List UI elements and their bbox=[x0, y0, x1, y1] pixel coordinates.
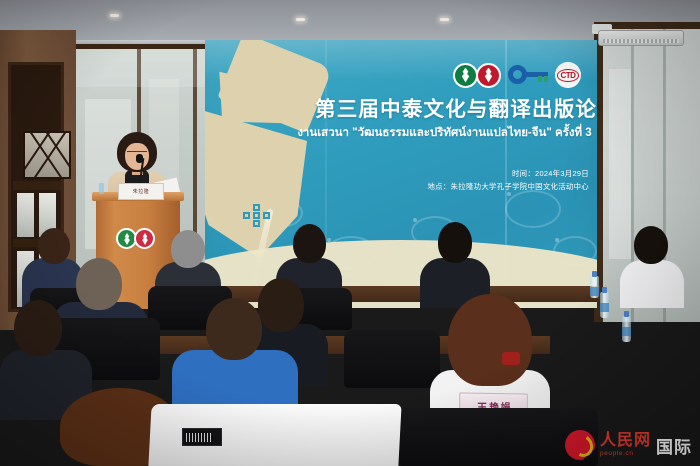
ctd-logo: CTD bbox=[555, 62, 581, 88]
ceiling-light-2 bbox=[440, 18, 449, 21]
watermark-section: 国际 bbox=[656, 433, 692, 458]
ceiling-light-3 bbox=[110, 14, 119, 17]
audience-head-8 bbox=[14, 300, 62, 356]
banner-logo-row: CTD bbox=[453, 62, 581, 88]
people-cn-logo-icon bbox=[565, 430, 595, 460]
banner-time-line: 时间：2024年3月29日 bbox=[359, 168, 589, 181]
chair-label-tag bbox=[182, 428, 222, 446]
ceiling-light-1 bbox=[296, 18, 305, 21]
audience-head-4 bbox=[438, 222, 472, 263]
water-bottle-2 bbox=[600, 292, 609, 318]
audience-head-3 bbox=[293, 224, 326, 263]
banner-event-details: 时间：2024年3月29日 地点：朱拉隆功大学孔子学院中国文化活动中心 bbox=[359, 168, 589, 194]
peoples-daily-watermark: 人民网 people.cn 国际 bbox=[565, 430, 692, 460]
audience-head-7 bbox=[206, 298, 262, 360]
banner-place-line: 地点：朱拉隆功大学孔子学院中国文化活动中心 bbox=[359, 181, 589, 194]
air-conditioner-unit bbox=[598, 30, 684, 46]
confucius-institute-red-logo bbox=[476, 63, 501, 88]
audience-head-2 bbox=[171, 230, 205, 268]
door-rail-top bbox=[13, 181, 61, 190]
chair-middle-2 bbox=[344, 330, 440, 388]
audience-head-9 bbox=[448, 294, 532, 386]
podium-water-bottle bbox=[99, 183, 104, 194]
banner-title-chinese: 第三届中泰文化与翻译出版论坛 bbox=[315, 92, 590, 122]
banner-subtitle-thai: งานเสวนา "วัฒนธรรมและปริทัศน์งานแปลไทย-จ… bbox=[297, 124, 592, 142]
watermark-brand: 人民网 people.cn bbox=[600, 433, 651, 458]
water-bottle-4 bbox=[590, 276, 599, 298]
watermark-brand-zh: 人民网 bbox=[600, 433, 651, 449]
water-bottle-3 bbox=[622, 316, 631, 342]
ctd-logo-label: CTD bbox=[557, 69, 580, 82]
cloud-motif-1 bbox=[505, 190, 561, 228]
audience-head-10 bbox=[634, 226, 668, 264]
hair-clip bbox=[502, 352, 520, 365]
audience-member-10 bbox=[620, 226, 684, 308]
audience-member-7 bbox=[172, 298, 298, 418]
door-transom-window bbox=[23, 131, 71, 179]
nib-knot-ornament bbox=[243, 204, 277, 234]
event-backdrop-banner: CTD 第三届中泰文化与翻译出版论坛 งานเสวนา "วัฒนธรรมและ… bbox=[205, 40, 597, 308]
blue-key-logo bbox=[508, 64, 548, 86]
audience-body-10 bbox=[620, 260, 684, 308]
window-ceiling-glow bbox=[75, 49, 205, 87]
microphone-head bbox=[136, 154, 143, 163]
confucius-institute-green-logo bbox=[453, 63, 478, 88]
podium-nameplate-text: 朱拉隆 bbox=[133, 188, 150, 195]
podium-nameplate: 朱拉隆 bbox=[118, 183, 164, 200]
watermark-domain: people.cn bbox=[600, 451, 651, 458]
conference-photo-scene: CTD 第三届中泰文化与翻译出版论坛 งานเสวนา "วัฒนธรรมและ… bbox=[0, 0, 700, 466]
podium-logo-red bbox=[134, 228, 155, 249]
